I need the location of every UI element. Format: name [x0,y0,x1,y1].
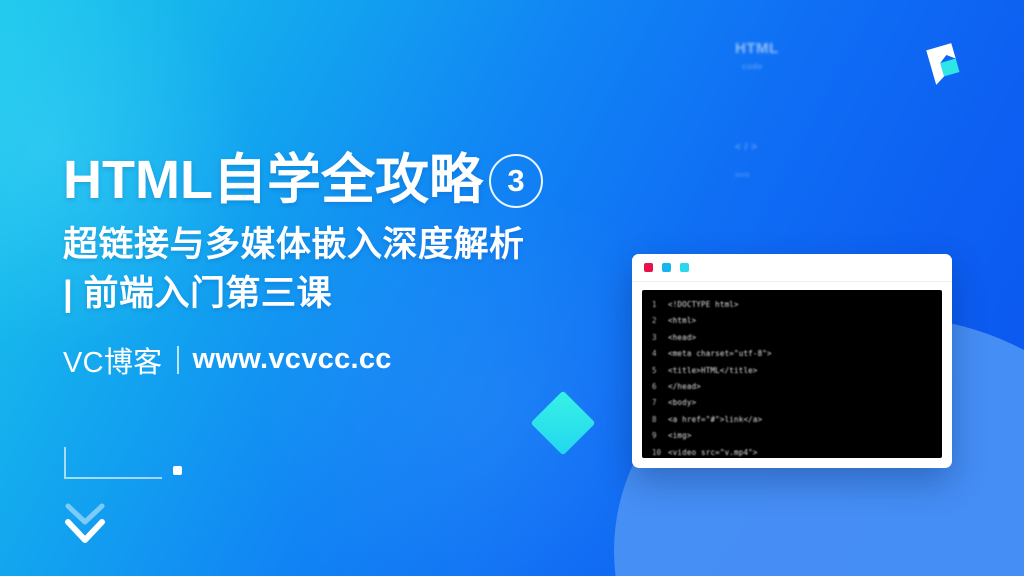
code-line-number: 4 [652,349,668,358]
code-line-text: <html> [668,316,696,325]
code-line: 7<body> [652,398,934,414]
code-line-number: 8 [652,415,668,424]
square-dot-decoration [173,466,182,475]
code-line-text: <img> [668,431,692,440]
code-line: 5<title>HTML</title> [652,366,934,382]
maximize-dot-icon[interactable] [680,263,689,272]
corner-bracket-decoration [64,447,162,479]
code-line: 3<head> [652,333,934,349]
code-line: 2<html> [652,316,934,332]
code-line-text: <head> [668,333,696,342]
minimize-dot-icon[interactable] [662,263,671,272]
code-line-number: 6 [652,382,668,391]
poster-canvas: HTML code < / > web HTML自学全攻略 3 超链接与多媒体嵌… [0,0,1024,576]
code-line-text: <!DOCTYPE html> [668,300,739,309]
code-line-number: 10 [652,448,668,457]
page-title: HTML自学全攻略 [63,152,483,208]
code-line-text: <body> [668,398,696,407]
code-line-number: 9 [652,431,668,440]
code-window-titlebar [632,254,952,282]
headline-block: HTML自学全攻略 3 超链接与多媒体嵌入深度解析 | 前端入门第三课 VC博客… [63,152,643,381]
code-line-text: <a href="#">link</a> [668,415,762,424]
code-editor-body: 1<!DOCTYPE html>2<html>3<head>4<meta cha… [642,290,942,458]
subtitle-primary: 超链接与多媒体嵌入深度解析 [63,224,643,265]
subtitle-secondary: | 前端入门第三课 [63,273,643,314]
title-row: HTML自学全攻略 3 [63,152,643,208]
double-chevron-down-icon [62,500,108,548]
watermark-line-2: code [742,62,763,71]
code-editor-window: 1<!DOCTYPE html>2<html>3<head>4<meta cha… [632,254,952,468]
flag-logo-icon [915,36,973,94]
code-line-number: 1 [652,300,668,309]
code-line-number: 5 [652,366,668,375]
code-line: 1<!DOCTYPE html> [652,300,934,316]
brand-name: VC博客 [63,339,163,381]
code-line-number: 7 [652,398,668,407]
code-line: 10<video src="v.mp4"> [652,448,934,458]
code-line-text: <meta charset="utf-8"> [668,349,772,358]
brand-url: www.vcvcc.cc [193,343,392,376]
lesson-number-badge: 3 [489,154,543,208]
code-line-text: <video src="v.mp4"> [668,448,758,457]
code-line-number: 2 [652,316,668,325]
code-line-text: <title>HTML</title> [668,366,758,375]
watermark-line-1: HTML [735,40,779,57]
code-line: 9<img> [652,431,934,447]
close-dot-icon[interactable] [644,263,653,272]
code-line-number: 3 [652,333,668,342]
code-line-text: </head> [668,382,701,391]
code-line: 6</head> [652,382,934,398]
brand-row: VC博客 www.vcvcc.cc [63,339,643,381]
brand-separator [177,346,179,374]
watermark-line-3: < / > [735,142,758,153]
watermark-line-4: web [735,172,750,179]
code-line: 4<meta charset="utf-8"> [652,349,934,365]
code-line: 8<a href="#">link</a> [652,415,934,431]
